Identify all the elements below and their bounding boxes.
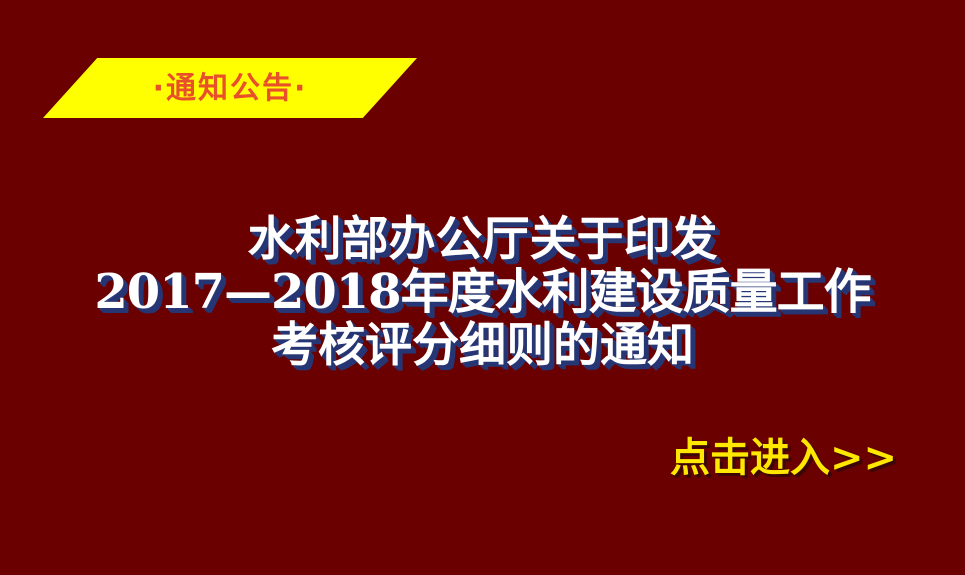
enter-link[interactable]: 点击进入>> <box>670 434 897 481</box>
title-line-3: 考核评分细则的通知 <box>0 319 965 372</box>
title-line-1: 水利部办公厅关于印发 <box>0 213 965 266</box>
announcement-poster: ·通知公告· 水利部办公厅关于印发 2017—2018年度水利建设质量工作 考核… <box>0 0 965 575</box>
announcement-title: 水利部办公厅关于印发 2017—2018年度水利建设质量工作 考核评分细则的通知 <box>0 213 965 372</box>
notice-banner-label: ·通知公告· <box>153 74 308 104</box>
notice-banner-ribbon: ·通知公告· <box>43 58 417 118</box>
title-line-2: 2017—2018年度水利建设质量工作 <box>0 266 965 319</box>
enter-link-container: 点击进入>> <box>0 434 965 482</box>
